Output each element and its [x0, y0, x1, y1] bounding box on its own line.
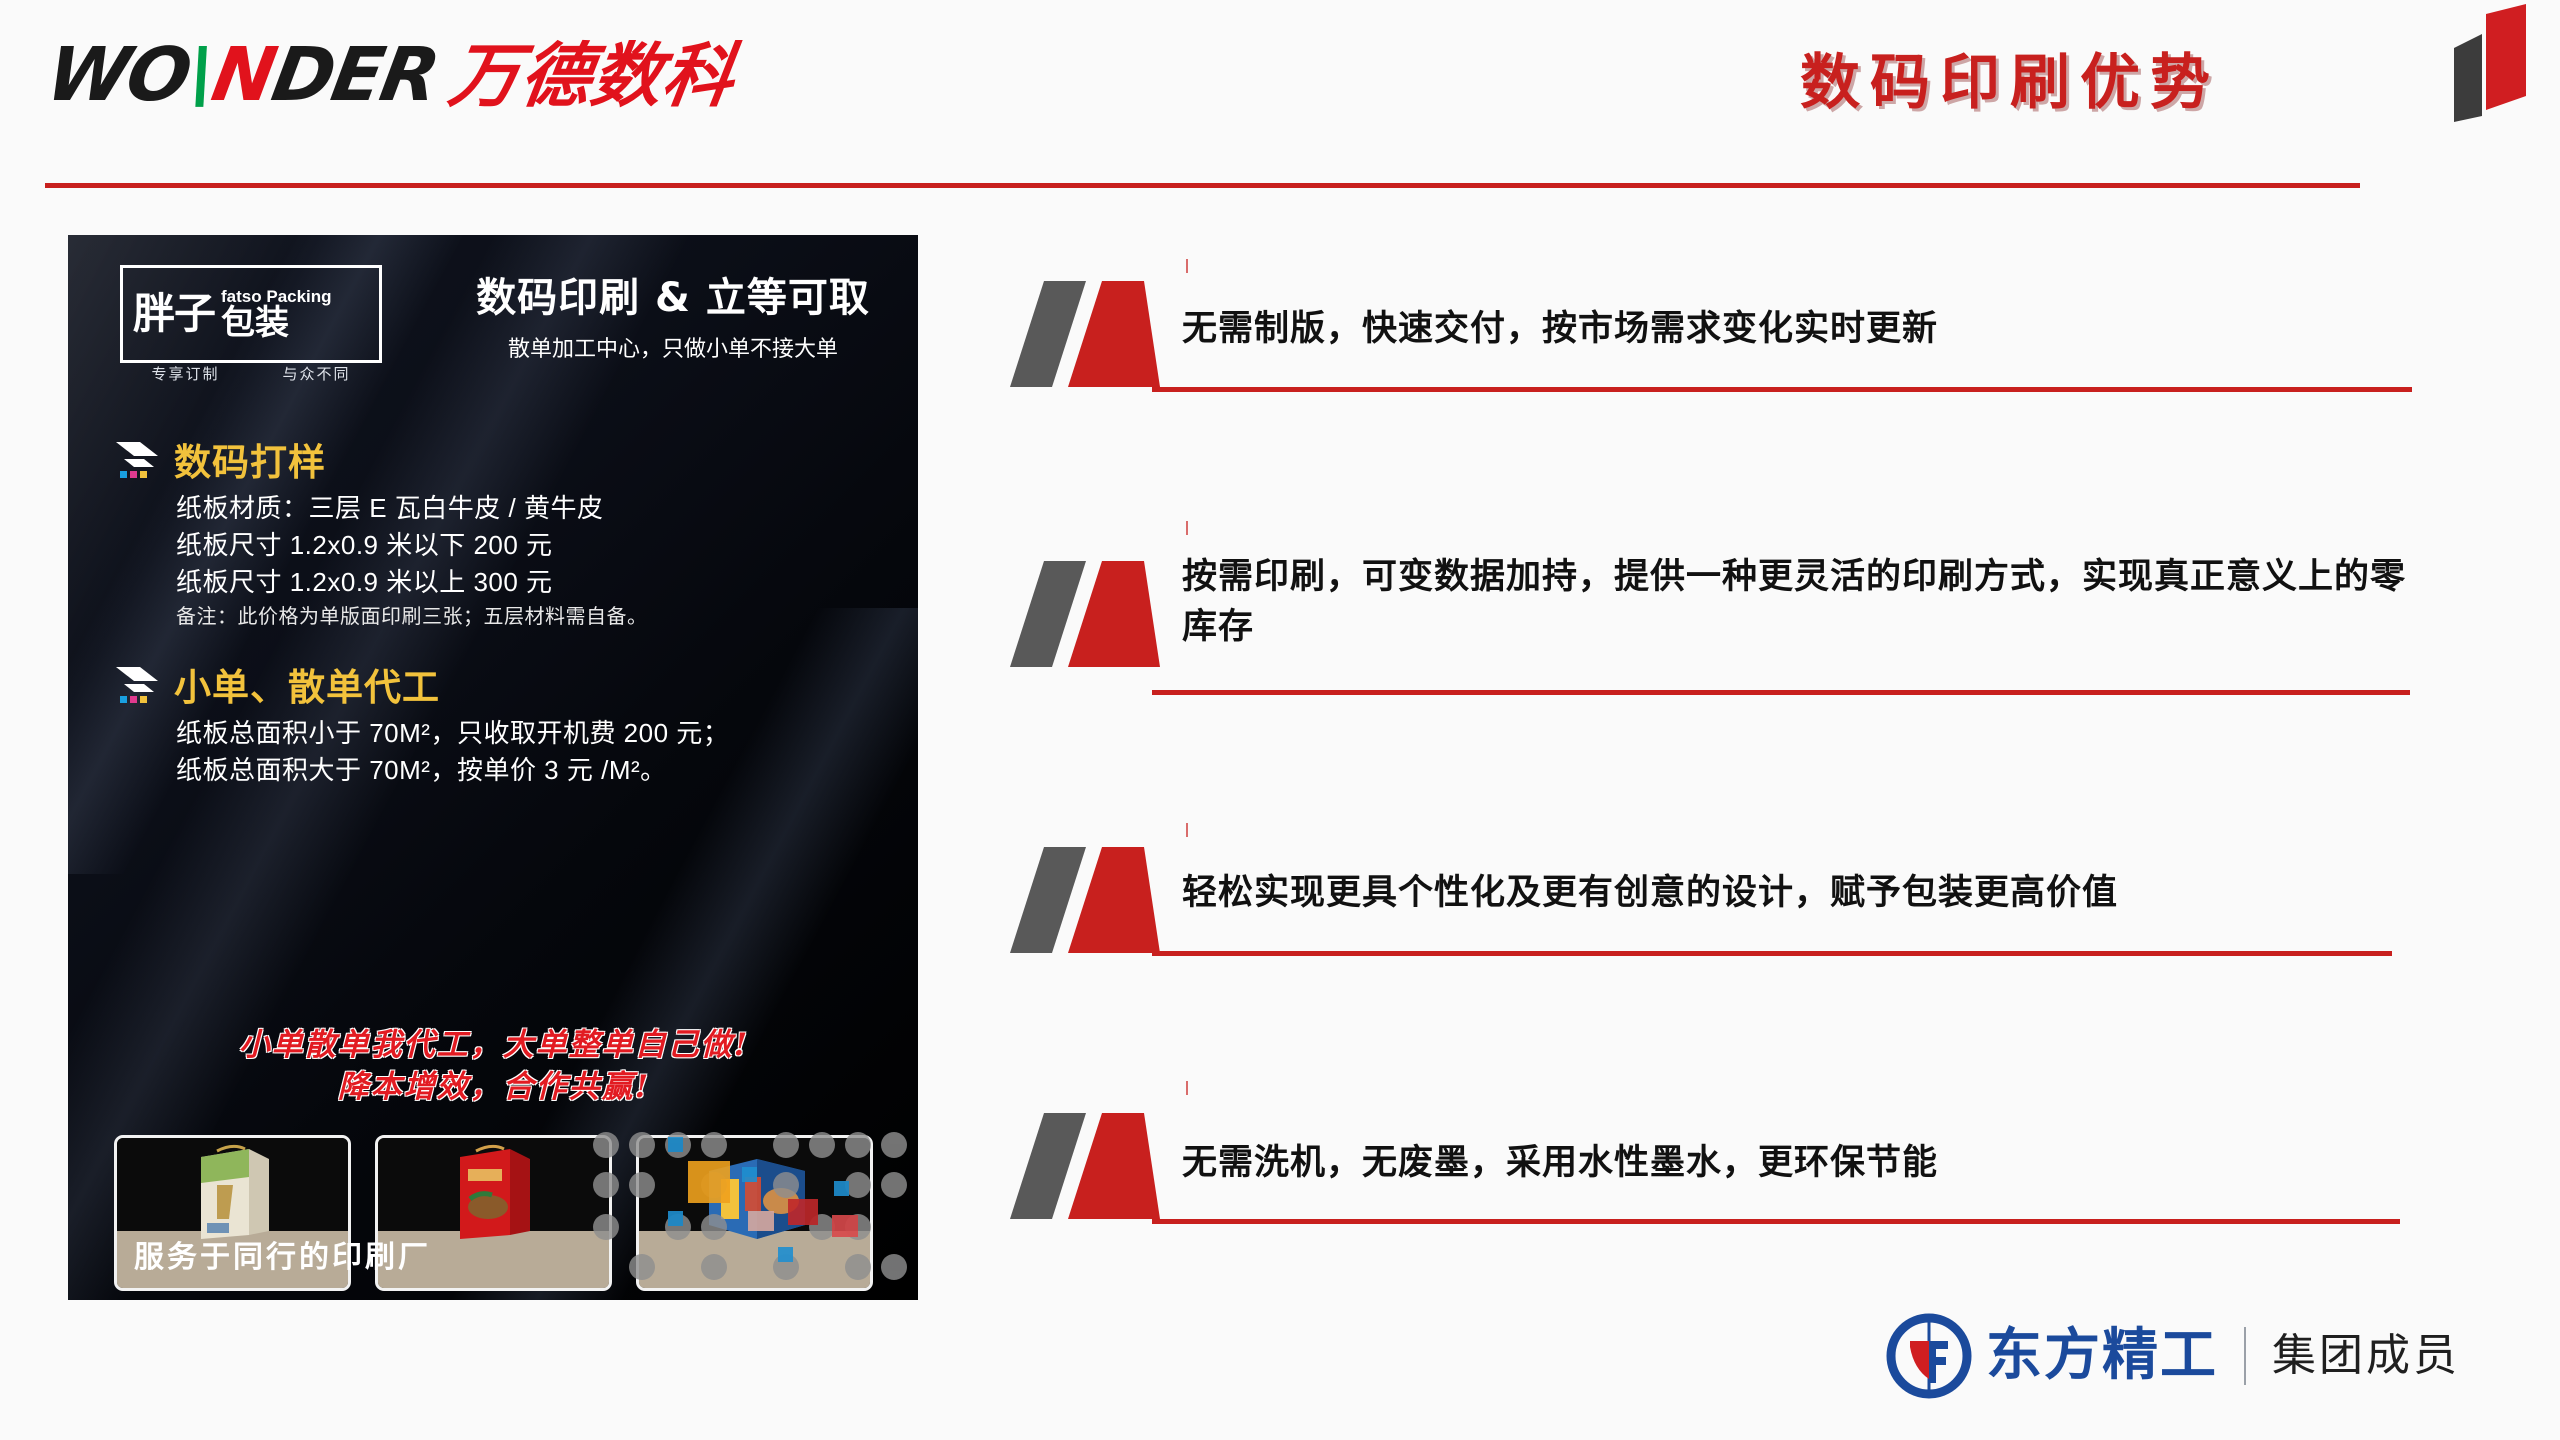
advantages-list: 无需制版，快速交付，按市场需求变化实时更新 按需印刷，可变数据加持，提供一种更灵… — [1000, 255, 2460, 1265]
poster-section-digital-proofing: 数码打样 纸板材质：三层 E 瓦白牛皮 / 黄牛皮 纸板尺寸 1.2x0.9 米… — [114, 440, 874, 631]
poster-headline: 数码印刷 & 立等可取 — [458, 275, 888, 321]
section-heading-1: 数码打样 — [174, 444, 326, 481]
fatso-packing-logo: 胖子 fatso Packing 包装 — [120, 265, 382, 363]
bullet-underline — [1152, 387, 2412, 392]
dongfang-emblem-icon — [1886, 1313, 1972, 1399]
slogan-line-2: 降本增效，合作共赢! — [114, 1067, 874, 1109]
tagline-right: 与众不同 — [282, 363, 350, 384]
fatso-logo-tagline: 专享订制 与众不同 — [120, 363, 382, 384]
tagline-left: 专享订制 — [151, 363, 219, 384]
section-2-line-2: 纸板总面积大于 70M²，按单价 3 元 /M²。 — [176, 752, 874, 789]
bullet-text: 轻松实现更具个性化及更有创意的设计，赋予包装更高价值 — [1182, 869, 2412, 919]
section-1-note: 备注：此价格为单版面印刷三张；五层材料需自备。 — [176, 603, 874, 631]
wonder-brand-logo: WO\NDER 万德数科 — [48, 38, 734, 104]
wonder-der-text: DER — [266, 32, 444, 118]
chevron-right-icon — [114, 440, 166, 484]
group-member-text: 集团成员 — [2272, 1334, 2460, 1378]
section-1-line-1: 纸板材质：三层 E 瓦白牛皮 / 黄牛皮 — [176, 490, 874, 527]
footer-logo-divider — [2244, 1327, 2246, 1385]
poster-footer-text: 服务于同行的印刷厂 — [134, 1232, 431, 1276]
wonder-wordmark: WO\NDER — [41, 38, 443, 112]
section-1-line-2: 纸板尺寸 1.2x0.9 米以下 200 元 — [176, 527, 874, 564]
poster-slogan: 小单散单我代工，大单整单自己做! 降本增效，合作共赢! — [114, 1025, 874, 1109]
chevron-right-icon — [114, 665, 166, 709]
slogan-line-1: 小单散单我代工，大单整单自己做! — [114, 1025, 874, 1067]
bullet-underline — [1152, 690, 2410, 695]
bullet-text: 无需洗机，无废墨，采用水性墨水，更环保节能 — [1182, 1139, 2412, 1189]
page-header: WO\NDER 万德数科 数码印刷优势 — [0, 0, 2560, 190]
poster-headline-block: 数码印刷 & 立等可取 散单加工中心，只做小单不接大单 — [458, 275, 888, 363]
open-book-icon — [2434, 4, 2526, 122]
bullet-marker-icon — [1010, 555, 1160, 675]
section-1-line-3: 纸板尺寸 1.2x0.9 米以上 300 元 — [176, 564, 874, 601]
fatso-logo-cn1: 胖子 — [133, 293, 215, 335]
bullet-marker-icon — [1010, 841, 1160, 961]
group-member-logo: 东方精工 集团成员 — [1886, 1310, 2460, 1402]
section-heading-2: 小单、散单代工 — [174, 669, 440, 706]
bullet-underline — [1152, 1219, 2400, 1224]
fatso-logo-cn2: 包装 — [221, 306, 332, 340]
dot-pattern-decoration — [588, 1115, 918, 1300]
bullet-underline — [1152, 951, 2392, 956]
section-2-line-1: 纸板总面积小于 70M²，只收取开机费 200 元； — [176, 715, 874, 752]
poster-section-small-order-oem: 小单、散单代工 纸板总面积小于 70M²，只收取开机费 200 元； 纸板总面积… — [114, 665, 874, 789]
bullet-marker-icon — [1010, 275, 1160, 395]
header-divider — [45, 183, 2360, 188]
wonder-chinese-name: 万德数科 — [446, 41, 740, 111]
poster-subheadline: 散单加工中心，只做小单不接大单 — [458, 331, 888, 363]
dongfang-logo-text: 东方精工 — [1986, 1328, 2218, 1384]
promo-poster-panel: 胖子 fatso Packing 包装 专享订制 与众不同 数码印刷 & 立等可… — [68, 235, 918, 1300]
bullet-marker-icon — [1010, 1107, 1160, 1227]
bullet-text: 按需印刷，可变数据加持，提供一种更灵活的印刷方式，实现真正意义上的零库存 — [1182, 553, 2412, 652]
bullet-text: 无需制版，快速交付，按市场需求变化实时更新 — [1182, 305, 2412, 355]
wonder-wo-text: WO — [40, 32, 196, 118]
page-title: 数码印刷优势 — [1800, 34, 2220, 121]
